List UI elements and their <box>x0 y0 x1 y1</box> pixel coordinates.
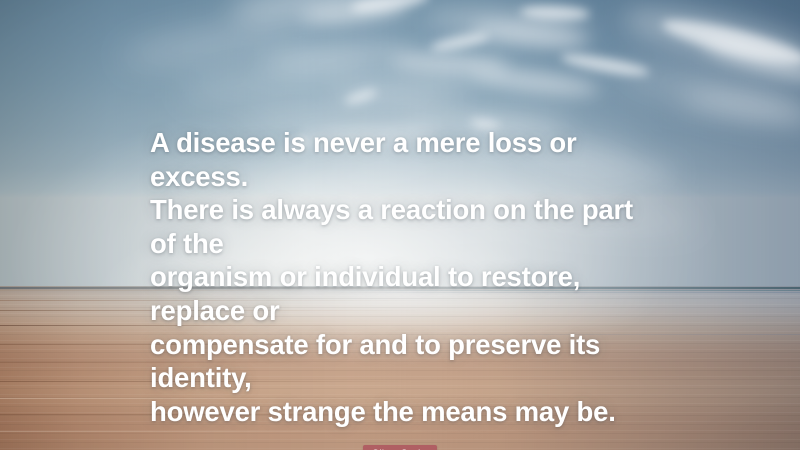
quote-image-canvas: A disease is never a mere loss or excess… <box>0 0 800 450</box>
author-name-badge[interactable]: Oliver Sacks <box>363 445 437 450</box>
quote-text: A disease is never a mere loss or excess… <box>150 126 650 428</box>
quote-content: A disease is never a mere loss or excess… <box>0 0 800 450</box>
